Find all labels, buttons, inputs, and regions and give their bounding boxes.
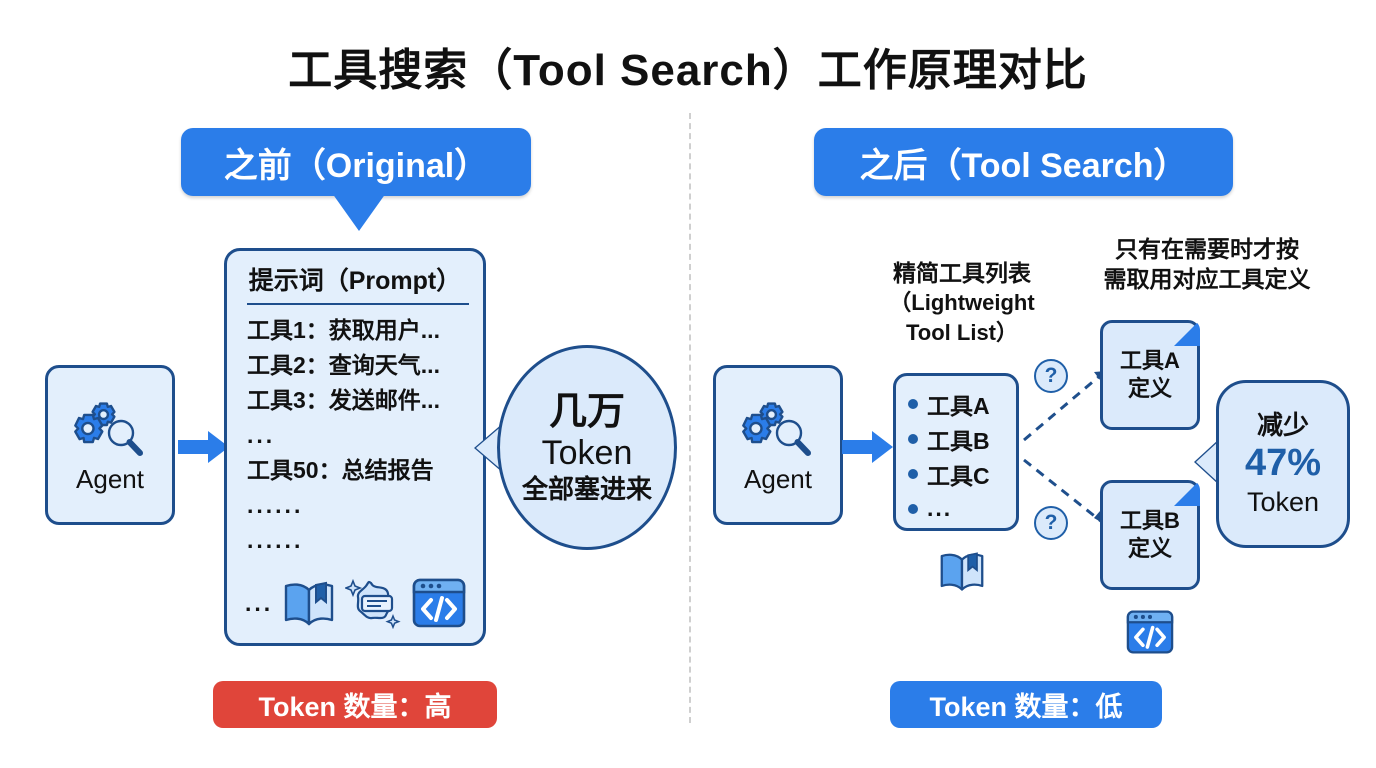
prompt-line: 工具1：获取用户... <box>247 313 487 348</box>
list-item: 工具C <box>908 456 1016 491</box>
question-badge-icon: ? <box>1034 506 1068 540</box>
prompt-line: 工具2：查询天气... <box>247 348 487 383</box>
prompt-line-list: 工具1：获取用户... 工具2：查询天气... 工具3：发送邮件... ... … <box>247 313 487 558</box>
prompt-line: 工具3：发送邮件... <box>247 383 487 418</box>
agent-label: Agent <box>744 464 812 495</box>
bubble-line: 全部塞进来 <box>522 473 652 505</box>
page-fold-icon <box>1174 320 1200 346</box>
prompt-line: ...... <box>247 523 487 558</box>
bullet-icon <box>908 504 918 514</box>
list-item: 工具A <box>908 386 1016 421</box>
page-title: 工具搜索（Tool Search）工作原理对比 <box>0 34 1376 98</box>
bullet-icon <box>908 434 918 444</box>
bubble-line: 减少 <box>1257 409 1309 441</box>
gears-magnifier-icon <box>72 396 148 462</box>
down-arrow-icon <box>332 193 386 231</box>
prompt-line: 工具50：总结报告 <box>247 453 487 488</box>
prompt-line: ...... <box>247 488 487 523</box>
agent-box-left: Agent <box>45 365 175 525</box>
code-window-icon <box>1126 609 1174 655</box>
list-item: 工具B <box>908 421 1016 456</box>
center-divider <box>689 113 691 723</box>
bubble-line: Token <box>1247 485 1319 519</box>
doc-line: 工具A <box>1120 347 1180 375</box>
right-panel-header-pill: 之后（Tool Search） <box>814 128 1233 196</box>
doc-line: 工具B <box>1120 507 1180 535</box>
bubble-line: Token <box>542 433 633 473</box>
arrow-agent-to-toollist <box>842 430 894 464</box>
tool-list-heading-sub1: （Lightweight <box>862 288 1062 318</box>
arrow-agent-to-prompt <box>178 430 230 464</box>
token-badge-left: Token 数量：高 <box>213 681 497 728</box>
tool-name: 工具C <box>927 457 990 491</box>
prompt-line: ... <box>247 418 487 453</box>
left-panel-header-pill: 之前（Original） <box>181 128 531 196</box>
book-icon <box>282 578 336 628</box>
question-badge-icon: ? <box>1034 359 1068 393</box>
prompt-divider <box>247 303 469 305</box>
on-demand-note: 只有在需要时才按 需取用对应工具定义 <box>1062 234 1352 294</box>
doc-line: 定义 <box>1128 535 1172 563</box>
on-demand-note-line: 只有在需要时才按 <box>1062 234 1352 264</box>
lightweight-tool-list-box: 工具A 工具B 工具C ... <box>893 373 1019 531</box>
diagram-canvas: 工具搜索（Tool Search）工作原理对比 之前（Original） Age… <box>0 0 1376 768</box>
tool-name: 工具A <box>927 387 990 421</box>
reduction-percent: 47% <box>1245 441 1321 485</box>
prompt-card-title: 提示词（Prompt） <box>227 261 483 297</box>
prompt-line: ... <box>245 590 273 617</box>
tool-list-heading-main: 精简工具列表 <box>862 258 1062 288</box>
gears-magnifier-icon <box>740 396 816 462</box>
tool-definition-card-a: 工具A 定义 <box>1100 320 1200 430</box>
on-demand-note-line: 需取用对应工具定义 <box>1062 264 1352 294</box>
tool-definition-card-b: 工具B 定义 <box>1100 480 1200 590</box>
prompt-card: 提示词（Prompt） 工具1：获取用户... 工具2：查询天气... 工具3：… <box>224 248 486 646</box>
code-window-icon <box>412 577 466 629</box>
list-item: ... <box>908 491 1016 526</box>
token-reduction-bubble: 减少 47% Token <box>1216 380 1350 548</box>
doc-line: 定义 <box>1128 375 1172 403</box>
agent-box-right: Agent <box>713 365 843 525</box>
token-bubble-left: 几万 Token 全部塞进来 <box>497 345 677 550</box>
bubble-line: 几万 <box>549 391 625 433</box>
tool-name: ... <box>927 495 952 522</box>
sparkle-chat-icon <box>345 577 403 629</box>
bullet-icon <box>908 399 918 409</box>
book-icon <box>938 549 986 593</box>
token-badge-right: Token 数量：低 <box>890 681 1162 728</box>
prompt-icon-row: ... <box>245 573 485 633</box>
tool-name: 工具B <box>927 422 990 456</box>
agent-label: Agent <box>76 464 144 495</box>
bullet-icon <box>908 469 918 479</box>
